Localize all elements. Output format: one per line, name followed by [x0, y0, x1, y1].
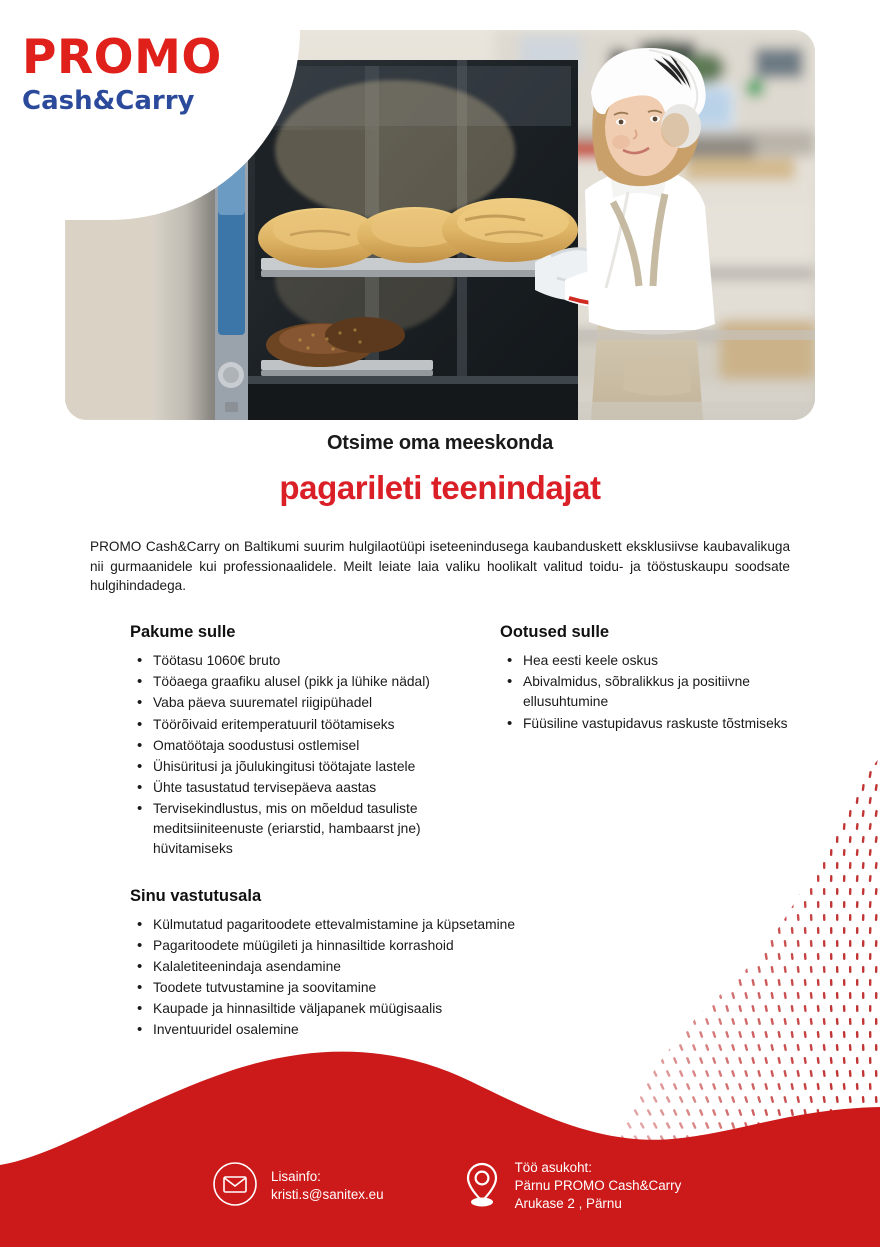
intro-paragraph: PROMO Cash&Carry on Baltikumi suurim hul… [90, 537, 790, 596]
logo-secondary-text: Cash&Carry [22, 88, 242, 114]
envelope-icon [212, 1161, 258, 1212]
expectations-section: Ootused sulle Hea eesti keele oskusAbiva… [500, 623, 800, 735]
list-item: Töörõivaid eritemperatuuril töötamiseks [130, 715, 500, 735]
list-item: Pagaritoodete müügileti ja hinnasiltide … [130, 936, 750, 956]
two-column-section: Pakume sulle Töötasu 1060€ brutoTööaega … [0, 623, 880, 860]
responsibilities-heading: Sinu vastutusala [130, 887, 750, 906]
expectations-heading: Ootused sulle [500, 623, 800, 642]
footer-contacts: Lisainfo: kristi.s@sanitex.eu Töö asukoh… [0, 1151, 880, 1221]
page-title: pagarileti teenindajat [0, 469, 880, 507]
list-item: Kaupade ja hinnasiltide väljapanek müügi… [130, 999, 750, 1019]
contact-email[interactable]: Lisainfo: kristi.s@sanitex.eu [212, 1161, 384, 1212]
list-item: Ühte tasustatud tervisepäeva aastas [130, 778, 500, 798]
contact-location: Töö asukoht: Pärnu PROMO Cash&Carry Aruk… [462, 1159, 682, 1214]
list-item: Inventuuridel osalemine [130, 1020, 750, 1040]
offer-section: Pakume sulle Töötasu 1060€ brutoTööaega … [130, 623, 500, 860]
list-item: Töötasu 1060€ bruto [130, 651, 500, 671]
advert-content: Otsime oma meeskonda pagarileti teeninda… [0, 432, 880, 1041]
job-advert-page: PROMO Cash&Carry Otsime oma meeskonda pa… [0, 0, 880, 1247]
offer-heading: Pakume sulle [130, 623, 500, 642]
list-item: Ühisüritusi ja jõulukingitusi töötajate … [130, 757, 500, 777]
list-item: Külmutatud pagaritoodete ettevalmistamin… [130, 915, 750, 935]
offer-list: Töötasu 1060€ brutoTööaega graafiku alus… [130, 651, 500, 859]
list-item: Abivalmidus, sõbralikkus ja positiivne e… [500, 672, 800, 712]
list-item: Füüsiline vastupidavus raskuste tõstmise… [500, 714, 800, 734]
location-text: Töö asukoht: Pärnu PROMO Cash&Carry Aruk… [515, 1159, 682, 1212]
list-item: Hea eesti keele oskus [500, 651, 800, 671]
list-item: Omatöötaja soodustusi ostlemisel [130, 736, 500, 756]
list-item: Kalaletiteenindaja asendamine [130, 957, 750, 977]
expectations-list: Hea eesti keele oskusAbivalmidus, sõbral… [500, 651, 800, 734]
list-item: Vaba päeva suurematel riigipühadel [130, 693, 500, 713]
list-item: Tervisekindlustus, mis on mõeldud tasuli… [130, 799, 500, 859]
brand-logo: PROMO Cash&Carry [22, 34, 242, 114]
responsibilities-section: Sinu vastutusala Külmutatud pagaritoodet… [130, 887, 750, 1041]
logo-primary-text: PROMO [22, 34, 242, 81]
map-pin-icon [462, 1159, 502, 1214]
responsibilities-list: Külmutatud pagaritoodete ettevalmistamin… [130, 915, 750, 1041]
list-item: Tööaega graafiku alusel (pikk ja lühike … [130, 672, 500, 692]
email-text: Lisainfo: kristi.s@sanitex.eu [271, 1168, 384, 1203]
kicker-text: Otsime oma meeskonda [0, 432, 880, 455]
list-item: Toodete tutvustamine ja soovitamine [130, 978, 750, 998]
